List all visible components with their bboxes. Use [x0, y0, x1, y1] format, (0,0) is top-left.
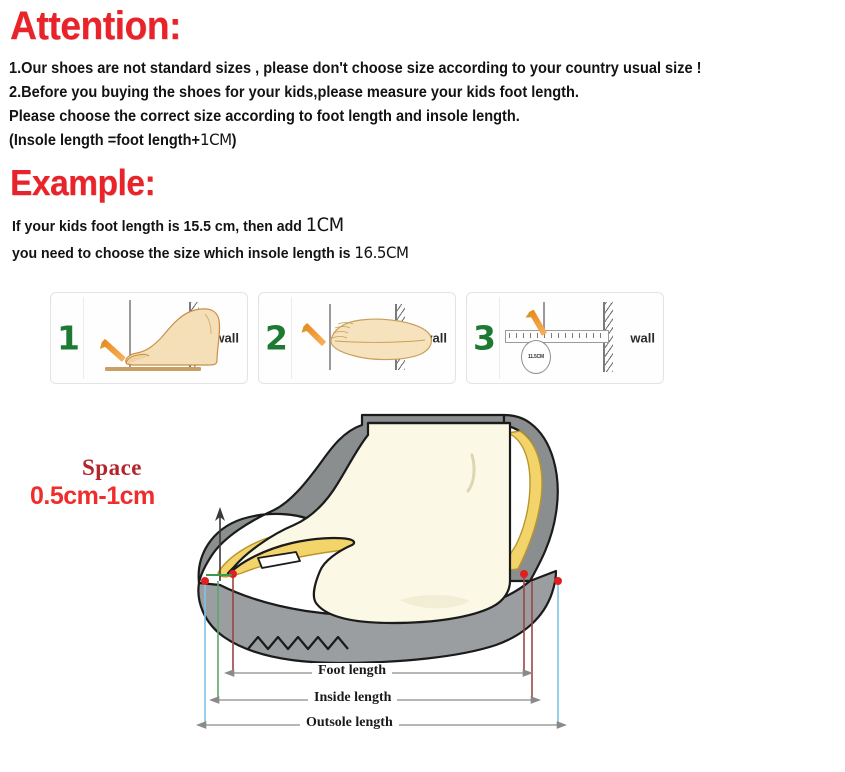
dimension-label-outsole-length: Outsole length	[300, 715, 399, 731]
shoe-cross-section-diagram: Foot length Inside length Outsole length	[100, 395, 620, 740]
attention-heading: Attention:	[10, 4, 181, 49]
note-line-4-suffix: )	[232, 132, 237, 149]
dimension-label-inside-length: Inside length	[308, 690, 397, 706]
example-heading: Example:	[10, 162, 155, 204]
measure-step-2: 2 wall	[258, 292, 456, 384]
note-line-1: 1.Our shoes are not standard sizes , ple…	[9, 60, 701, 78]
step-divider	[499, 297, 500, 379]
step-divider	[291, 297, 292, 379]
step-1-illustration	[85, 296, 207, 380]
note-line-3: Please choose the correct size according…	[9, 108, 520, 126]
marker-dot	[520, 570, 528, 578]
example-line-2-prefix: you need to choose the size which insole…	[12, 245, 354, 262]
measurement-callout: 11.5CM	[521, 340, 551, 374]
measure-step-3: 3 wall 11.5CM	[466, 292, 664, 384]
measured-value: 11.5CM	[528, 354, 544, 360]
marker-dot	[201, 577, 209, 585]
example-add-cm: 1CM	[306, 214, 344, 236]
step-2-illustration	[293, 296, 415, 380]
step-number-1: 1	[57, 319, 80, 358]
marker-dot	[554, 577, 562, 585]
note-line-4: (Insole length =foot length+1CM)	[9, 130, 237, 150]
step-number-2: 2	[265, 319, 288, 358]
step-number-3: 3	[473, 319, 496, 358]
shoe-diagram-svg	[100, 395, 620, 740]
step-3-illustration: 11.5CM	[501, 296, 623, 380]
shoe-size-guide-page: { "headings": { "attention": "Attention:…	[0, 0, 845, 772]
note-line-2: 2.Before you buying the shoes for your k…	[9, 84, 579, 102]
measure-step-1: 1 wall	[50, 292, 248, 384]
wall-label-3: wall	[630, 331, 655, 346]
foot-top-view-icon	[327, 316, 439, 362]
step-divider	[83, 297, 84, 379]
example-line-1-prefix: If your kids foot length is 15.5 cm, the…	[12, 218, 306, 235]
pencil-icon	[303, 323, 326, 346]
note-line-4-cm-value: 1CM	[200, 130, 232, 149]
ruler-ticks-icon	[509, 333, 605, 338]
example-insole-cm: 16.5CM	[354, 243, 408, 262]
space-value: 0.5cm-1cm	[30, 482, 155, 511]
note-line-4-prefix: (Insole length =foot length+	[9, 132, 200, 149]
dimension-label-foot-length: Foot length	[312, 663, 392, 679]
example-line-2: you need to choose the size which insole…	[12, 243, 409, 262]
space-label: Space	[82, 455, 142, 481]
ruler-icon	[505, 330, 609, 343]
example-line-1: If your kids foot length is 15.5 cm, the…	[12, 214, 344, 236]
foot-side-view-icon	[113, 304, 243, 372]
measure-steps-row: 1 wall 2 wall	[50, 292, 662, 384]
